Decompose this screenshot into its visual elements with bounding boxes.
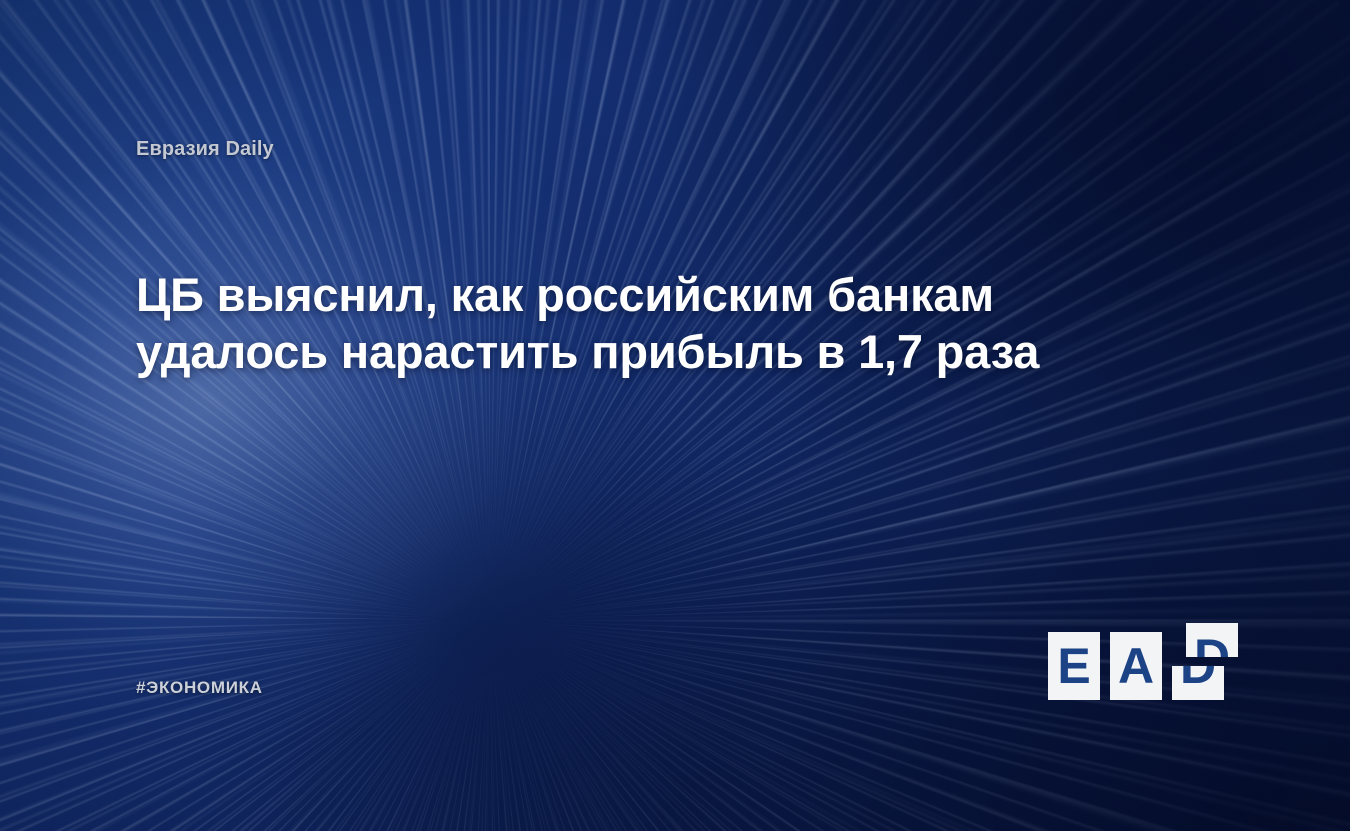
eadaily-logo: E A D D: [1048, 628, 1228, 704]
logo-letter-d-bottom: D: [1172, 666, 1224, 700]
logo-letter-d-top: D: [1186, 623, 1238, 657]
headline-line-2: удалось нарастить прибыль в 1,7 раза: [136, 323, 1226, 380]
logo-letter-e: E: [1048, 632, 1100, 700]
share-card: Евразия Daily ЦБ выяснил, как российским…: [0, 0, 1350, 831]
page-title: ЦБ выяснил, как российским банкам удалос…: [136, 266, 1226, 381]
headline-line-1: ЦБ выяснил, как российским банкам: [136, 266, 1226, 323]
category-hashtag: #ЭКОНОМИКА: [136, 678, 263, 698]
logo-d-bottom-glyph: D: [1172, 666, 1224, 700]
logo-d-top-glyph: D: [1186, 623, 1238, 657]
card-content: Евразия Daily ЦБ выяснил, как российским…: [0, 0, 1350, 831]
brand-name: Евразия Daily: [136, 138, 274, 161]
logo-letter-d: D D: [1172, 632, 1224, 700]
logo-letter-a: A: [1110, 632, 1162, 700]
